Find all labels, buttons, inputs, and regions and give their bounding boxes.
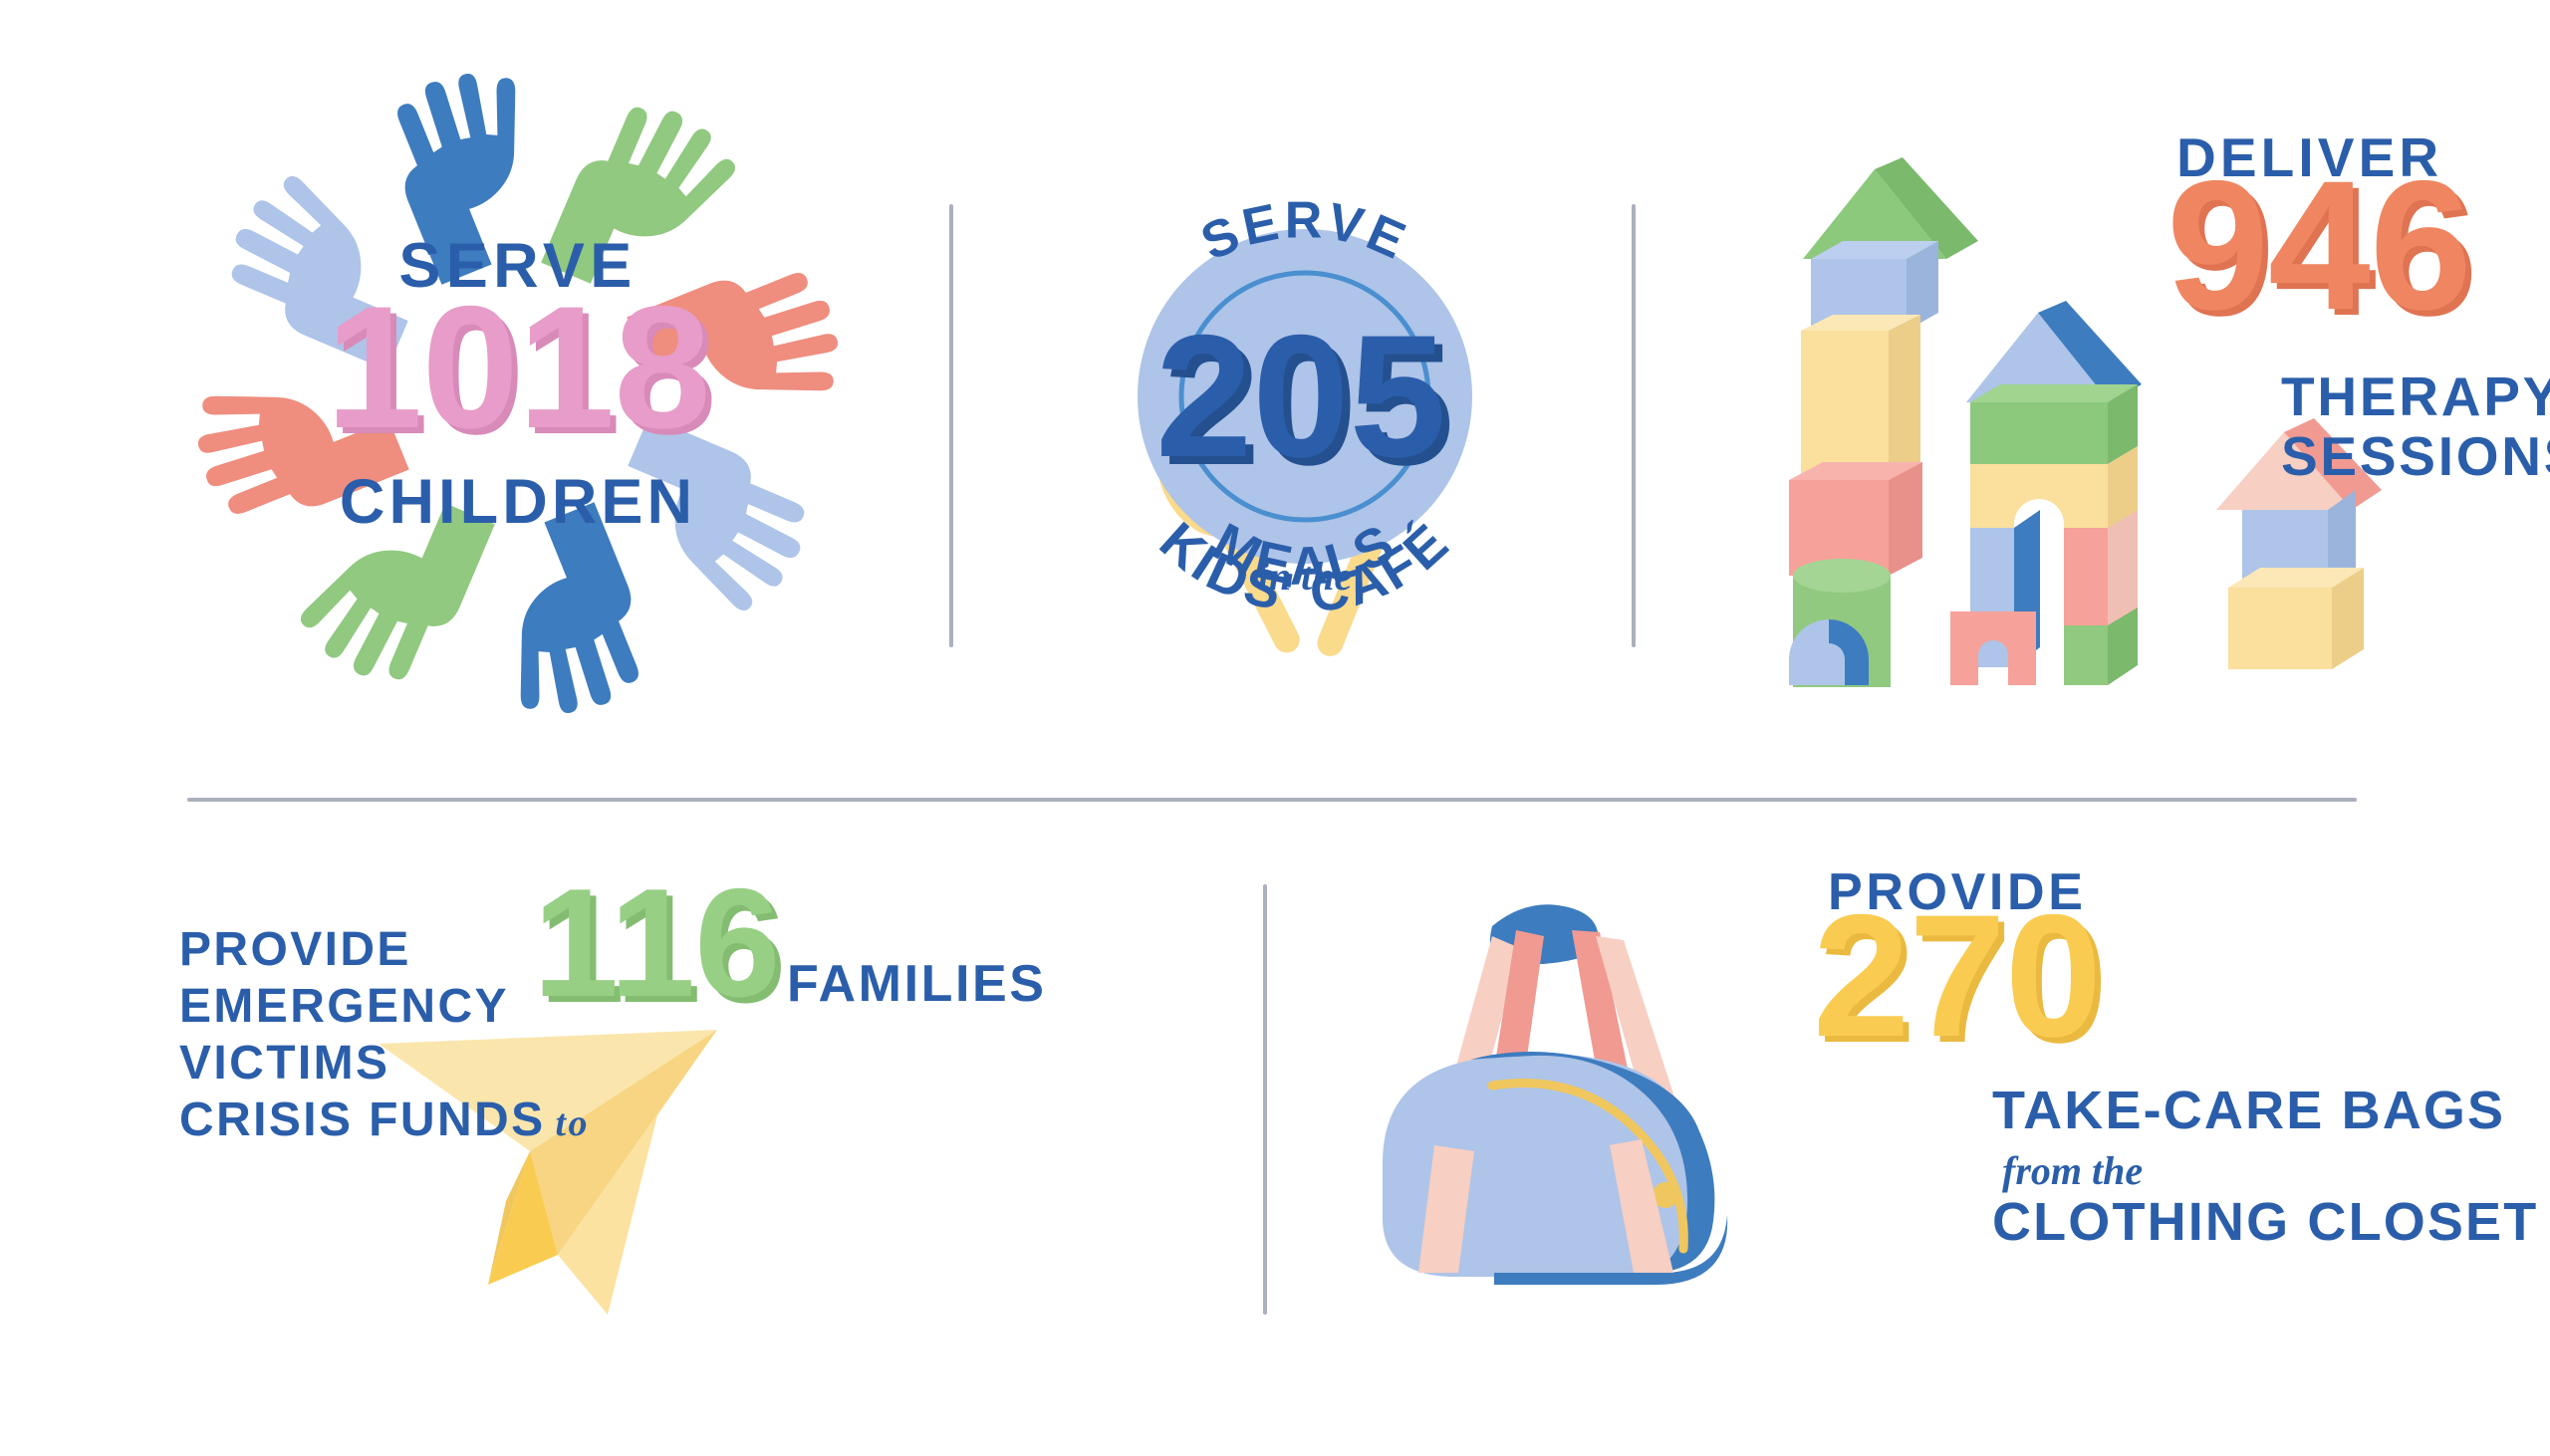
stat-number-take-care-bags: 270: [1813, 902, 2101, 1053]
stat-card-therapy: DELIVER 946 THERAPY SESSIONS: [1783, 129, 2540, 687]
stat-noun-take-care-bags: TAKE-CARE BAGS: [1992, 1084, 2505, 1138]
stat-verb-crisis-line2: EMERGENCY: [179, 983, 590, 1032]
stat-card-children: SERVE 1018 CHILDREN: [120, 40, 916, 747]
infographic-canvas: SERVE 1018 CHILDREN: [0, 0, 2550, 1456]
stat-card-take-care-bags: PROVIDE 270 TAKE-CARE BAGS from the CLOT…: [1375, 866, 2490, 1335]
stat-connector-crisis: to: [556, 1102, 590, 1144]
stat-number-crisis-funds: 116: [533, 876, 780, 1009]
stat-place-take-care-bags: CLOTHING CLOSET: [1992, 1195, 2538, 1250]
divider-horizontal: [187, 798, 2357, 802]
svg-text:205: 205: [1155, 300, 1446, 494]
stat-verb-crisis-funds: PROVIDE EMERGENCY VICTIMS CRISIS FUNDSto: [179, 926, 590, 1153]
stat-verb-crisis-line1: PROVIDE: [179, 926, 590, 975]
stat-number-children: 1018: [120, 294, 916, 444]
plate-spoon-fork-icon: SERVE 205 205 MEALS in the KIDS' CAFÉ: [1006, 110, 1604, 707]
stat-noun-children: CHILDREN: [120, 470, 916, 534]
stat-connector-take-care-bags: from the: [2002, 1147, 2143, 1194]
stat-number-therapy: 946: [2167, 167, 2471, 326]
divider-vertical-2: [1632, 204, 1636, 647]
stat-verb-crisis-line4: CRISIS FUNDSto: [179, 1096, 590, 1145]
stat-verb-crisis-line3: VICTIMS: [179, 1040, 590, 1089]
stat-noun-therapy-line2: SESSIONS: [2281, 428, 2550, 484]
stat-noun-therapy-line1: THERAPY: [2281, 368, 2550, 424]
divider-vertical-3: [1263, 884, 1267, 1315]
divider-vertical-1: [949, 204, 953, 647]
stat-card-meals: SERVE 205 205 MEALS in the KIDS' CAFÉ: [1006, 110, 1604, 707]
stat-card-crisis-funds: PROVIDE EMERGENCY VICTIMS CRISIS FUNDSto…: [179, 876, 1175, 1325]
stat-verb-crisis-line4-text: CRISIS FUNDS: [179, 1093, 546, 1146]
stat-noun-crisis-funds: FAMILIES: [787, 958, 1047, 1011]
building-blocks-icon: [1783, 129, 2201, 687]
